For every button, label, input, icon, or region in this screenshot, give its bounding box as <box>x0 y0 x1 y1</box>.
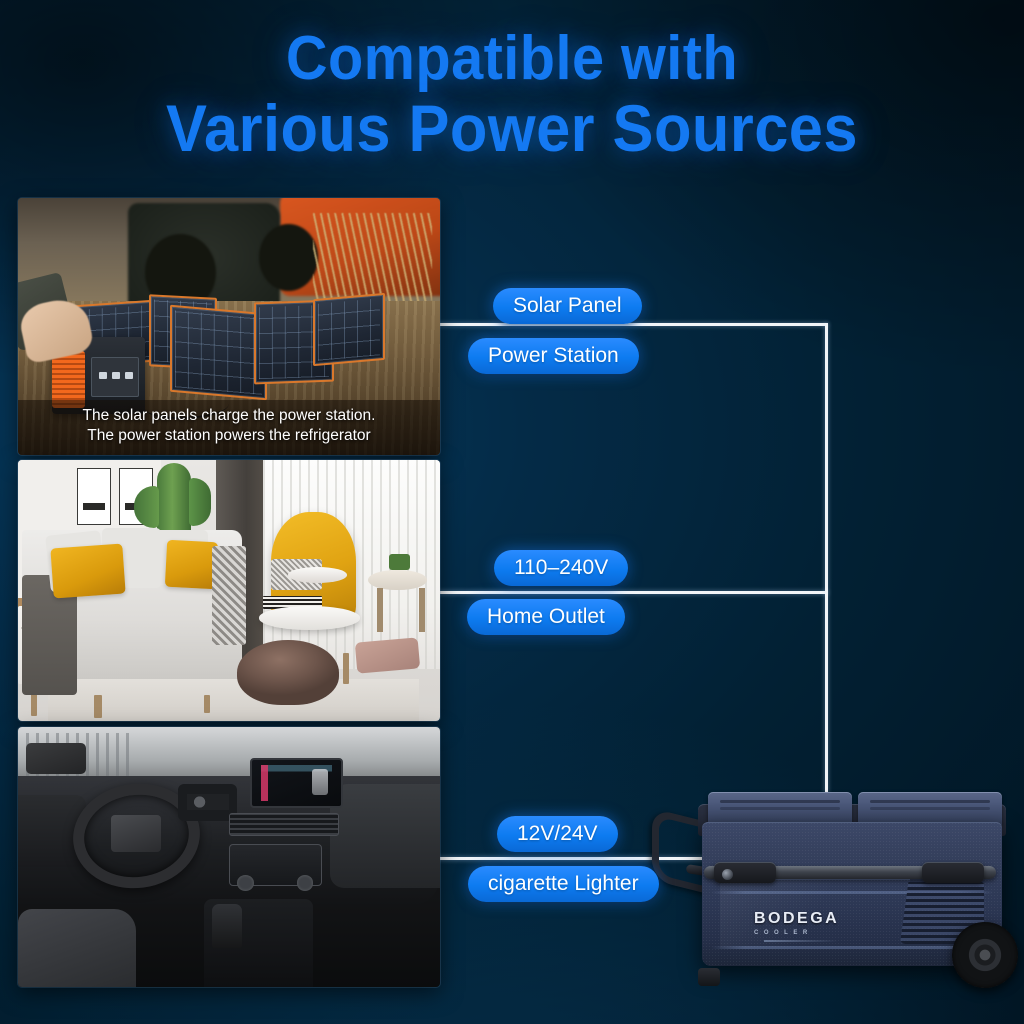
cooler-foot <box>698 968 720 986</box>
passenger-dashboard <box>330 784 440 888</box>
sofa-leg <box>94 695 102 718</box>
badge-voltage-home[interactable]: 110–240V <box>494 550 628 586</box>
brand-name: BODEGA <box>754 910 839 928</box>
solar-panel-segment <box>313 293 385 366</box>
photo-solar-campsite: The solar panels charge the power statio… <box>18 198 440 455</box>
photo-living-room <box>18 460 440 721</box>
air-vent <box>229 813 339 836</box>
handle-pivot <box>722 869 733 880</box>
vehicle-tire <box>259 224 318 291</box>
connector-line-home <box>438 591 828 594</box>
table-leg <box>419 588 425 632</box>
control-knob <box>237 875 254 891</box>
product-brand: BODEGA COOLER <box>754 910 839 936</box>
rug <box>48 679 419 721</box>
solar-panel-segment <box>170 304 267 400</box>
poster-canvas: Compatible with Various Power Sources <box>0 0 1024 1024</box>
badge-power-station[interactable]: Power Station <box>468 338 639 374</box>
caption-line-1: The solar panels charge the power statio… <box>28 406 430 426</box>
car-seat <box>18 909 136 987</box>
brand-accent-line <box>764 940 838 942</box>
coffee-table <box>259 606 360 629</box>
wall-art <box>77 468 111 525</box>
potted-plant <box>389 554 410 570</box>
infotainment-display <box>261 765 332 801</box>
connector-line-vertical <box>825 323 828 793</box>
yellow-cushion <box>164 540 217 590</box>
table-leg <box>343 653 349 684</box>
cooler-wheel <box>952 922 1018 988</box>
badge-cigarette-lighter[interactable]: cigarette Lighter <box>468 866 659 902</box>
title-line-1: Compatible with <box>36 26 988 93</box>
power-station-vent <box>52 351 85 408</box>
page-title: Compatible with Various Power Sources <box>0 26 1024 164</box>
product-portable-refrigerator: BODEGA COOLER <box>668 770 1024 1000</box>
lid-right <box>858 792 1002 826</box>
gear-shifter <box>212 904 242 948</box>
lid-left <box>708 792 852 826</box>
side-mirror <box>26 743 85 774</box>
badge-solar-panel[interactable]: Solar Panel <box>493 288 642 324</box>
yellow-cushion <box>50 544 125 598</box>
small-tray-table <box>288 567 347 583</box>
steering-wheel-hub <box>111 815 162 851</box>
title-line-2: Various Power Sources <box>36 93 988 164</box>
table-leg <box>377 588 383 632</box>
floor-pillow <box>354 637 420 674</box>
infotainment-screen <box>250 758 343 807</box>
control-knob <box>297 875 314 891</box>
sofa-leg <box>204 695 211 713</box>
body-ridge <box>711 946 993 949</box>
power-station-button <box>125 372 133 379</box>
power-station-button <box>99 372 107 379</box>
power-station-button <box>112 372 120 379</box>
photo-car-interior <box>18 727 440 987</box>
badge-voltage-car[interactable]: 12V/24V <box>497 816 618 852</box>
brand-subtitle: COOLER <box>754 930 839 936</box>
throw-blanket <box>212 546 246 645</box>
handle-grip-right <box>922 862 984 883</box>
floor-pouf <box>237 640 338 705</box>
connector-line-solar <box>438 323 828 326</box>
photo-solar-caption: The solar panels charge the power statio… <box>18 400 440 455</box>
caption-line-2: The power station powers the refrigerato… <box>28 426 430 446</box>
badge-home-outlet[interactable]: Home Outlet <box>467 599 625 635</box>
